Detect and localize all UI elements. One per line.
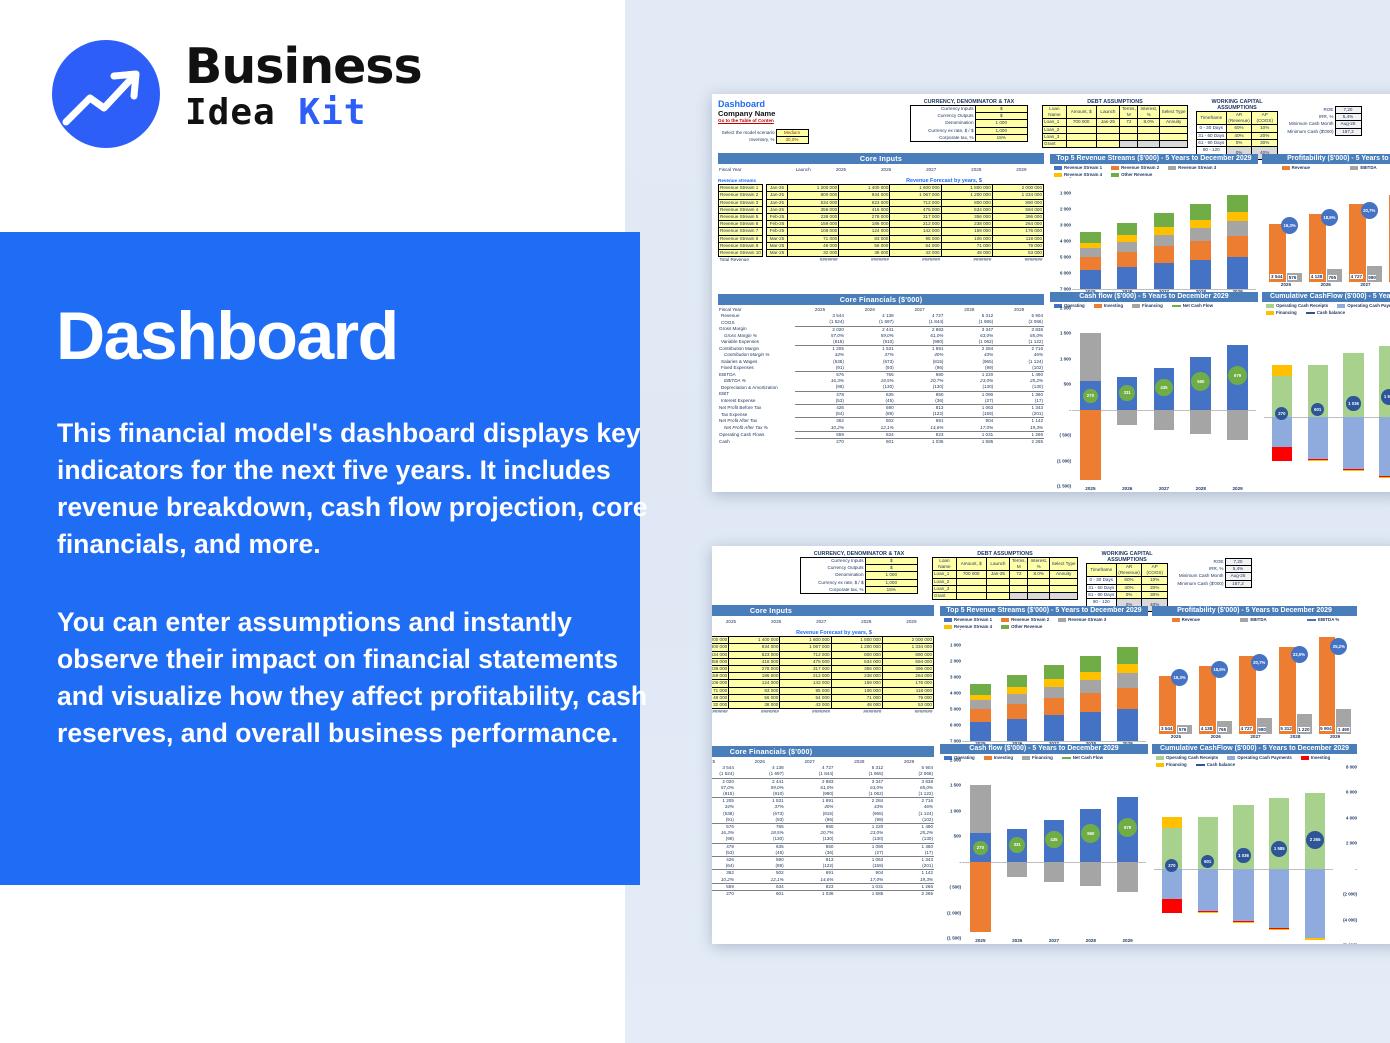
currency-label: Denomination [801,572,866,579]
debt-cell[interactable] [1028,593,1050,600]
legend-label: Operating Cash Receipts [1276,303,1328,308]
revenue-stream-value[interactable]: 890 000 [992,199,1043,206]
core-fin-value: (98) [795,384,845,391]
revenue-stream-name[interactable]: Revenue Stream 1 [719,185,763,192]
total-revenue-value: ####### [712,709,729,716]
revenue-stream-launch[interactable]: Jan-25 [767,199,788,206]
revenue-stream-value[interactable]: 32 000 [712,702,729,709]
debt-cell[interactable]: Loan_1 [933,571,957,578]
chart-title: Cash flow ($'000) - 5 Years to December … [940,744,1148,754]
wc-cell[interactable]: 0% [1226,139,1252,146]
debt-cell[interactable]: 72 [1010,571,1028,578]
debt-cell[interactable] [1050,578,1078,585]
revenue-stream-launch[interactable]: Jan-25 [767,185,788,192]
trend-line [1284,315,1390,492]
revenue-stream-name[interactable]: Revenue Stream 8 [719,235,763,242]
chart-cash-flow: Cash flow ($'000) - 5 Years to December … [940,744,1148,940]
revenue-stream-launch[interactable]: Feb-25 [767,228,788,235]
revenue-stream-value[interactable]: 106 000 [712,680,729,687]
revenue-stream-value[interactable]: 356 000 [831,666,882,673]
revenue-stream-value[interactable]: 238 000 [788,214,839,221]
core-fin-value: 1 036 [785,891,835,898]
wc-cell[interactable]: 40% [1116,584,1142,591]
revenue-stream-value[interactable]: 1 600 000 [780,637,831,644]
revenue-stream-value[interactable]: 264 000 [992,221,1043,228]
debt-cell[interactable]: Grant [1043,141,1067,148]
debt-cell[interactable]: Loan_1 [1043,119,1067,126]
revenue-stream-value[interactable]: 79 000 [882,694,933,701]
revenue-stream-value[interactable]: 159 000 [788,221,839,228]
revenue-stream-value[interactable]: 416 000 [729,658,780,665]
debt-cell[interactable] [1120,126,1138,133]
revenue-stream-value[interactable]: 32 000 [788,250,839,257]
core-inputs-year: 2027 [909,167,954,173]
revenue-stream-value[interactable]: 56 000 [729,694,780,701]
core-fin-value: (130) [994,384,1044,391]
debt-cell[interactable]: Loan_3 [933,585,957,592]
revenue-stream-value[interactable]: 53 000 [992,250,1043,257]
core-inputs-header-row: Fiscal Year Launch20252026202720282029 [712,619,934,625]
debt-cell[interactable]: 72 [1120,119,1138,126]
debt-cell[interactable]: Jan-25 [1096,119,1120,126]
currency-label: Currency Outputs [801,565,866,572]
revenue-stream-value[interactable]: 71 000 [788,235,839,242]
core-fin-value: (1 844) [785,771,835,778]
revenue-stream-value[interactable]: 106 000 [941,235,992,242]
bar-segment [1190,241,1211,260]
debt-cell[interactable] [1010,593,1028,600]
revenue-stream-value[interactable]: 1 800 000 [831,637,882,644]
core-fin-row: Interest Expense (53)(45)(36)(27)(17) [718,398,1044,405]
debt-cell[interactable] [1160,141,1188,148]
kpi-row: IRR, % 5,4% [1281,114,1361,121]
page-title: Dashboard [56,302,398,370]
debt-cell[interactable]: Loan_2 [1043,126,1067,133]
bar-segment [1044,665,1065,679]
debt-cell[interactable] [1028,578,1050,585]
y-axis: -1 0002 0003 0004 0005 0006 0007 000 [1050,177,1072,289]
legend-swatch [1306,312,1315,314]
revenue-stream-value[interactable]: 83 000 [729,687,780,694]
scenario-value[interactable]: Medium [776,130,808,137]
revenue-stream-launch[interactable]: Feb-25 [767,221,788,228]
debt-cell[interactable] [1138,133,1160,140]
debt-cell[interactable]: 8.0% [1028,571,1050,578]
revenue-stream-value[interactable]: 53 000 [882,702,933,709]
debt-cell[interactable] [1066,141,1096,148]
bar-area [962,629,1146,741]
revenue-stream-value[interactable]: 142 000 [890,228,941,235]
debt-cell[interactable] [1010,585,1028,592]
revenue-stream-value[interactable]: 106 000 [831,687,882,694]
bar-segment [1227,195,1248,212]
currency-label: Corporate tax, % [801,586,866,593]
revenue-stream-name[interactable]: Revenue Stream 7 [719,228,763,235]
revenue-stream-value[interactable]: 1 400 000 [839,185,890,192]
wc-header: AR (Revenue) [1226,112,1252,125]
core-fin-value: (36) [895,398,945,405]
revenue-stream-value[interactable]: 64 000 [890,242,941,249]
revenue-stream-value[interactable]: 278 000 [729,666,780,673]
revenue-stream-value[interactable]: 416 000 [839,206,890,213]
debt-cell[interactable] [956,578,986,585]
y-tick: (1 500) [947,936,961,941]
bar-segment [1117,709,1138,741]
chart-title: Top 5 Revenue Streams ($'000) - 5 Years … [940,606,1148,616]
revenue-stream-launch[interactable]: Feb-25 [767,214,788,221]
revenue-stream-value[interactable]: 2 000 000 [882,637,933,644]
revenue-stream-value[interactable]: 396 000 [882,666,933,673]
wc-cell[interactable]: 20% [1252,132,1278,139]
revenue-stream-launch[interactable]: Jan-25 [767,192,788,199]
bar-segment [970,722,991,741]
core-fin-value: 2 265 [884,891,934,898]
debt-cell[interactable] [1028,585,1050,592]
revenue-stream-value[interactable]: 800 000 [788,192,839,199]
core-fin-row: Net Profit Before Tax 4265908131 0631 34… [718,405,1044,412]
revenue-stream-value[interactable]: 712 000 [890,199,941,206]
revenue-stream-value[interactable]: 71 000 [941,242,992,249]
core-fin-row: Fixed Expenses (91)(93)(96)(99)(102) [712,817,934,824]
core-fin-value: (27) [944,398,994,405]
total-revenue-value: ####### [780,709,831,716]
revenue-stream-value[interactable]: 356 000 [712,658,729,665]
core-fin-value: 10,2% [795,425,845,432]
debt-cell[interactable] [1010,578,1028,585]
core-fin-value: 590 [735,857,785,864]
revenue-stream-value[interactable]: 356 000 [941,214,992,221]
revenue-stream-value[interactable]: 118 000 [882,687,933,694]
revenue-stream-value[interactable]: 48 000 [788,242,839,249]
revenue-stream-value[interactable]: 800 000 [712,644,729,651]
currency-value[interactable]: $ [865,558,917,565]
currency-value[interactable]: 15% [865,586,917,593]
revenue-stream-value[interactable]: 1 067 000 [780,644,831,651]
debt-cell[interactable] [1050,593,1078,600]
revenue-stream-row: Revenue Stream 4 Jan-25 356 000416 00047… [719,206,1044,213]
revenue-stream-value[interactable]: 1 334 000 [882,644,933,651]
debt-cell[interactable]: Annuity [1160,119,1188,126]
revenue-stream-value[interactable]: 186 000 [839,221,890,228]
revenue-stream-value[interactable]: 95 000 [890,235,941,242]
wc-cell[interactable]: 0% [1116,591,1142,598]
revenue-stream-value[interactable]: 623 000 [839,199,890,206]
revenue-stream-name[interactable]: Revenue Stream 2 [719,192,763,199]
core-fin-row: Gross Margin 2 0202 4412 8833 3473 838 [712,778,934,785]
revenue-stream-launch[interactable]: Mar-25 [767,250,788,257]
bar-segment [1154,235,1175,246]
core-fin-value: 1 360 [994,391,1044,398]
revenue-stream-name[interactable]: Revenue Stream 4 [719,206,763,213]
legend-label: Investing [1311,755,1330,760]
x-axis: 20252026202720282029 [1262,282,1390,287]
revenue-stream-value[interactable]: 238 000 [831,673,882,680]
debt-table: Loan NameAmount, $LaunchTerms, MInterest… [932,557,1078,600]
inventory-value[interactable]: 30,0% [776,137,808,144]
revenue-stream-value[interactable]: 264 000 [882,673,933,680]
currency-value[interactable]: 15% [975,134,1027,141]
revenue-stream-value[interactable]: 800 000 [941,199,992,206]
currency-value[interactable]: 1,000 [975,127,1027,134]
revenue-stream-value[interactable]: 186 000 [729,673,780,680]
core-fin-value: (130) [785,836,835,843]
revenue-stream-value[interactable]: 38 000 [729,702,780,709]
revenue-stream-value[interactable]: 48 000 [712,694,729,701]
revenue-stream-value[interactable]: 48 000 [941,250,992,257]
debt-cell[interactable] [1160,126,1188,133]
currency-value[interactable]: $ [975,113,1027,120]
revenue-stream-value[interactable]: 43 000 [780,702,831,709]
wc-cell[interactable]: 10% [1142,577,1168,584]
debt-cell[interactable] [1160,133,1188,140]
revenue-stream-value[interactable]: 534 000 [712,651,729,658]
kpi-table: ROE 7,20 IRR, % 5,4% Minimum Cash Month … [1171,558,1252,588]
revenue-stream-value[interactable]: 64 000 [780,694,831,701]
legend-swatch [1307,619,1316,621]
debt-table: Loan NameAmount, $LaunchTerms, MInterest… [1042,105,1188,148]
debt-cell[interactable]: Loan_3 [1043,133,1067,140]
chart-legend: Operating Cash ReceiptsOperating Cash Pa… [1262,302,1390,315]
revenue-stream-launch[interactable]: Mar-25 [767,242,788,249]
revenue-stream-value[interactable]: 48 000 [831,702,882,709]
core-fin-value: 904 [834,870,884,877]
working-capital-section: WORKING CAPITAL ASSUMPTIONS TimeframeAR … [1196,99,1362,160]
revenue-stream-value[interactable]: 79 000 [992,242,1043,249]
debt-header: Launch [1096,106,1120,119]
debt-cell[interactable] [956,585,986,592]
debt-cell[interactable]: Annuity [1050,571,1078,578]
revenue-stream-value[interactable]: 238 000 [712,666,729,673]
revenue-stream-value[interactable]: 934 000 [839,192,890,199]
currency-value[interactable]: $ [865,565,917,572]
y-tick: 500 [954,834,961,839]
debt-cell[interactable] [1120,133,1138,140]
legend-swatch [1337,304,1345,308]
wc-cell: 61 - 90 Days [1197,139,1227,146]
revenue-stream-value[interactable]: 712 000 [780,651,831,658]
y-tick: 500 [1064,382,1071,387]
revenue-stream-value[interactable]: 176 000 [882,680,933,687]
core-fin-value: 1 142 [994,418,1044,425]
revenue-stream-value[interactable]: 159 000 [831,680,882,687]
debt-cell[interactable]: Loan_2 [933,578,957,585]
legend-item: Revenue Stream 1 [944,617,992,622]
wc-cell[interactable]: 60% [1226,125,1252,132]
revenue-stream-value[interactable]: 159 000 [712,673,729,680]
wc-cell[interactable]: 30% [1142,591,1168,598]
core-fin-label: Cash [718,439,795,446]
revenue-stream-value[interactable]: 534 000 [831,658,882,665]
x-tick: 2027 [1146,486,1183,491]
revenue-stream-value[interactable]: 159 000 [941,228,992,235]
debt-cell[interactable] [986,593,1010,600]
revenue-stream-value[interactable]: 534 000 [941,206,992,213]
debt-cell[interactable] [986,585,1010,592]
wc-cell[interactable]: 10% [1252,125,1278,132]
debt-cell[interactable]: 8.0% [1138,119,1160,126]
wc-cell[interactable]: 30% [1252,139,1278,146]
legend-swatch [1227,756,1235,760]
revenue-stream-value[interactable]: 534 000 [788,199,839,206]
x-tick: 2026 [999,938,1036,943]
debt-cell[interactable]: Grant [933,593,957,600]
chart-plot: 3 544 576 16,3% 4 138 765 18,5% 4 727 98… [1152,622,1357,734]
revenue-stream-value[interactable]: 934 000 [729,644,780,651]
bar-segment [1007,704,1028,719]
revenue-stream-value[interactable]: 176 000 [992,228,1043,235]
core-fin-value: 1 585 [834,891,884,898]
core-fin-label: Net Profit Before Tax [718,405,795,412]
table-of-contents-link[interactable]: Go to the Table of Conten [718,118,809,123]
revenue-stream-value[interactable]: 1 200 000 [712,637,729,644]
bar-segment [1227,212,1248,222]
revenue-stream-value[interactable]: 1 200 000 [831,644,882,651]
revenue-stream-value[interactable]: 83 000 [839,235,890,242]
revenue-stream-value[interactable]: 2 000 000 [992,185,1043,192]
revenue-stream-launch[interactable]: Mar-25 [767,235,788,242]
revenue-stream-value[interactable]: 238 000 [941,221,992,228]
revenue-stream-value[interactable]: 71 000 [712,687,729,694]
currency-label: Currency Inputs [911,106,976,113]
revenue-stream-value[interactable]: 212 000 [780,673,831,680]
core-fin-value: (130) [845,384,895,391]
wc-cell[interactable]: 60% [1116,577,1142,584]
legend-item: Operating Cash Receipts [1156,755,1218,760]
core-fin-value: 14,6% [895,425,945,432]
revenue-stream-value[interactable]: 1 200 000 [788,185,839,192]
y-tick: 2 000 [950,758,961,763]
core-fin-row: Net Profit After Tax 3625026919041 142 [712,870,934,877]
debt-header: Terms, M [1010,558,1028,571]
bar-segment [1080,672,1101,681]
revenue-stream-value[interactable]: 118 000 [992,235,1043,242]
wc-cell[interactable]: 40% [1226,132,1252,139]
revenue-stream-value[interactable]: 623 000 [729,651,780,658]
total-revenue-value: ####### [831,709,882,716]
revenue-stream-launch[interactable]: Jan-25 [767,206,788,213]
core-fin-value: 10,2% [712,877,735,884]
debt-cell[interactable] [1066,133,1096,140]
currency-value[interactable]: 1,000 [865,579,917,586]
revenue-stream-value[interactable]: 475 000 [780,658,831,665]
debt-cell[interactable] [1138,126,1160,133]
revenue-stream-value[interactable]: 1 334 000 [992,192,1043,199]
core-fin-value: 2 265 [994,439,1044,446]
revenue-stream-value[interactable]: 38 000 [839,250,890,257]
revenue-stream-name[interactable]: Revenue Stream 10 [719,250,763,257]
core-fin-value: (96) [785,817,835,824]
revenue-stream-value[interactable]: 1 400 000 [729,637,780,644]
revenue-stream-value[interactable]: 124 000 [729,680,780,687]
debt-cell[interactable] [1050,585,1078,592]
revenue-stream-value[interactable]: 106 000 [788,228,839,235]
legend-item: Revenue Stream 3 [1168,165,1216,170]
revenue-stream-value[interactable]: 212 000 [890,221,941,228]
wc-cell: 0 - 30 Days [1087,577,1117,584]
revenue-stream-value[interactable]: 1 067 000 [890,192,941,199]
revenue-stream-value[interactable]: 800 000 [831,651,882,658]
core-fin-value: 502 [735,870,785,877]
wc-header: AP (COGS) [1142,564,1168,577]
core-fin-value: 12,1% [735,877,785,884]
revenue-stream-value[interactable]: 1 800 000 [941,185,992,192]
revenue-stream-value[interactable]: 594 000 [992,206,1043,213]
launch-label: Launch [788,167,819,173]
revenue-stream-value[interactable]: 594 000 [882,658,933,665]
revenue-stream-value[interactable]: 317 000 [780,666,831,673]
debt-cell[interactable] [956,593,986,600]
revenue-stream-value[interactable]: 142 000 [780,680,831,687]
kpi-label: Minimum Cash Month [1281,121,1335,128]
revenue-stream-value[interactable]: 356 000 [788,206,839,213]
trend-line [1266,170,1390,282]
core-fin-value: 270 [712,891,735,898]
brand-logo: Business Idea Kit [52,34,452,154]
revenue-stream-value[interactable]: 1 600 000 [890,185,941,192]
core-fin-value: 1 220 [834,824,884,831]
core-fin-value: 980 [785,824,835,831]
wc-cell[interactable]: 20% [1142,584,1168,591]
legend-label: Revenue Stream 2 [1121,165,1159,170]
currency-value[interactable]: 1 000 [975,120,1027,127]
core-fin-value: 1 031 [834,883,884,890]
currency-value[interactable]: $ [975,106,1027,113]
debt-cell[interactable] [986,578,1010,585]
debt-cell[interactable] [1096,133,1120,140]
core-fin-value: (815) [712,791,735,798]
bar-segment [1007,719,1028,741]
core-fin-value: 1 063 [834,857,884,864]
revenue-stream-value[interactable]: 317 000 [890,214,941,221]
revenue-stream-value[interactable]: 396 000 [992,214,1043,221]
debt-cell[interactable] [1120,141,1138,148]
debt-cell[interactable] [1066,126,1096,133]
y-tick: (1 500) [1057,484,1071,489]
revenue-stream-value[interactable]: 95 000 [780,687,831,694]
revenue-stream-name[interactable]: Revenue Stream 9 [719,242,763,249]
revenue-stream-value[interactable]: 124 000 [839,228,890,235]
core-fin-value: 2 020 [712,778,735,785]
currency-row: Corporate tax, % 15% [911,134,1028,141]
debt-cell[interactable]: 700 000 [956,571,986,578]
y-axis: -1 0002 0003 0004 0005 0006 0007 000 [940,629,962,741]
core-fin-value: (122) [895,411,945,418]
revenue-stream-value[interactable]: 43 000 [890,250,941,257]
revenue-stream-value[interactable]: 1 200 000 [941,192,992,199]
debt-cell[interactable] [1096,141,1120,148]
revenue-stream-name[interactable]: Revenue Stream 3 [719,199,763,206]
revenue-stream-value[interactable]: 278 000 [839,214,890,221]
debt-cell[interactable]: 700 000 [1066,119,1096,126]
revenue-stream-value[interactable]: 475 000 [890,206,941,213]
trend-line [1156,622,1355,734]
debt-cell[interactable]: Jan-25 [986,571,1010,578]
revenue-stream-row: Revenue Stream 1 Jan-25 1 200 0001 400 0… [712,637,934,644]
core-fin-value: 559 [795,431,845,438]
revenue-stream-value[interactable]: 56 000 [839,242,890,249]
currency-value[interactable]: 1 000 [865,572,917,579]
core-inputs-year: 2025 [712,619,754,625]
core-fin-value: (102) [994,365,1044,372]
revenue-stream-name[interactable]: Revenue Stream 5 [719,214,763,221]
revenue-stream-value[interactable]: 890 000 [882,651,933,658]
debt-cell[interactable] [1096,126,1120,133]
x-tick: 2028 [1182,486,1219,491]
revenue-stream-value[interactable]: 71 000 [831,694,882,701]
debt-cell[interactable] [1138,141,1160,148]
chart-title: Profitability ($'000) - 5 Years to Decem… [1152,606,1357,616]
revenue-stream-name[interactable]: Revenue Stream 6 [719,221,763,228]
